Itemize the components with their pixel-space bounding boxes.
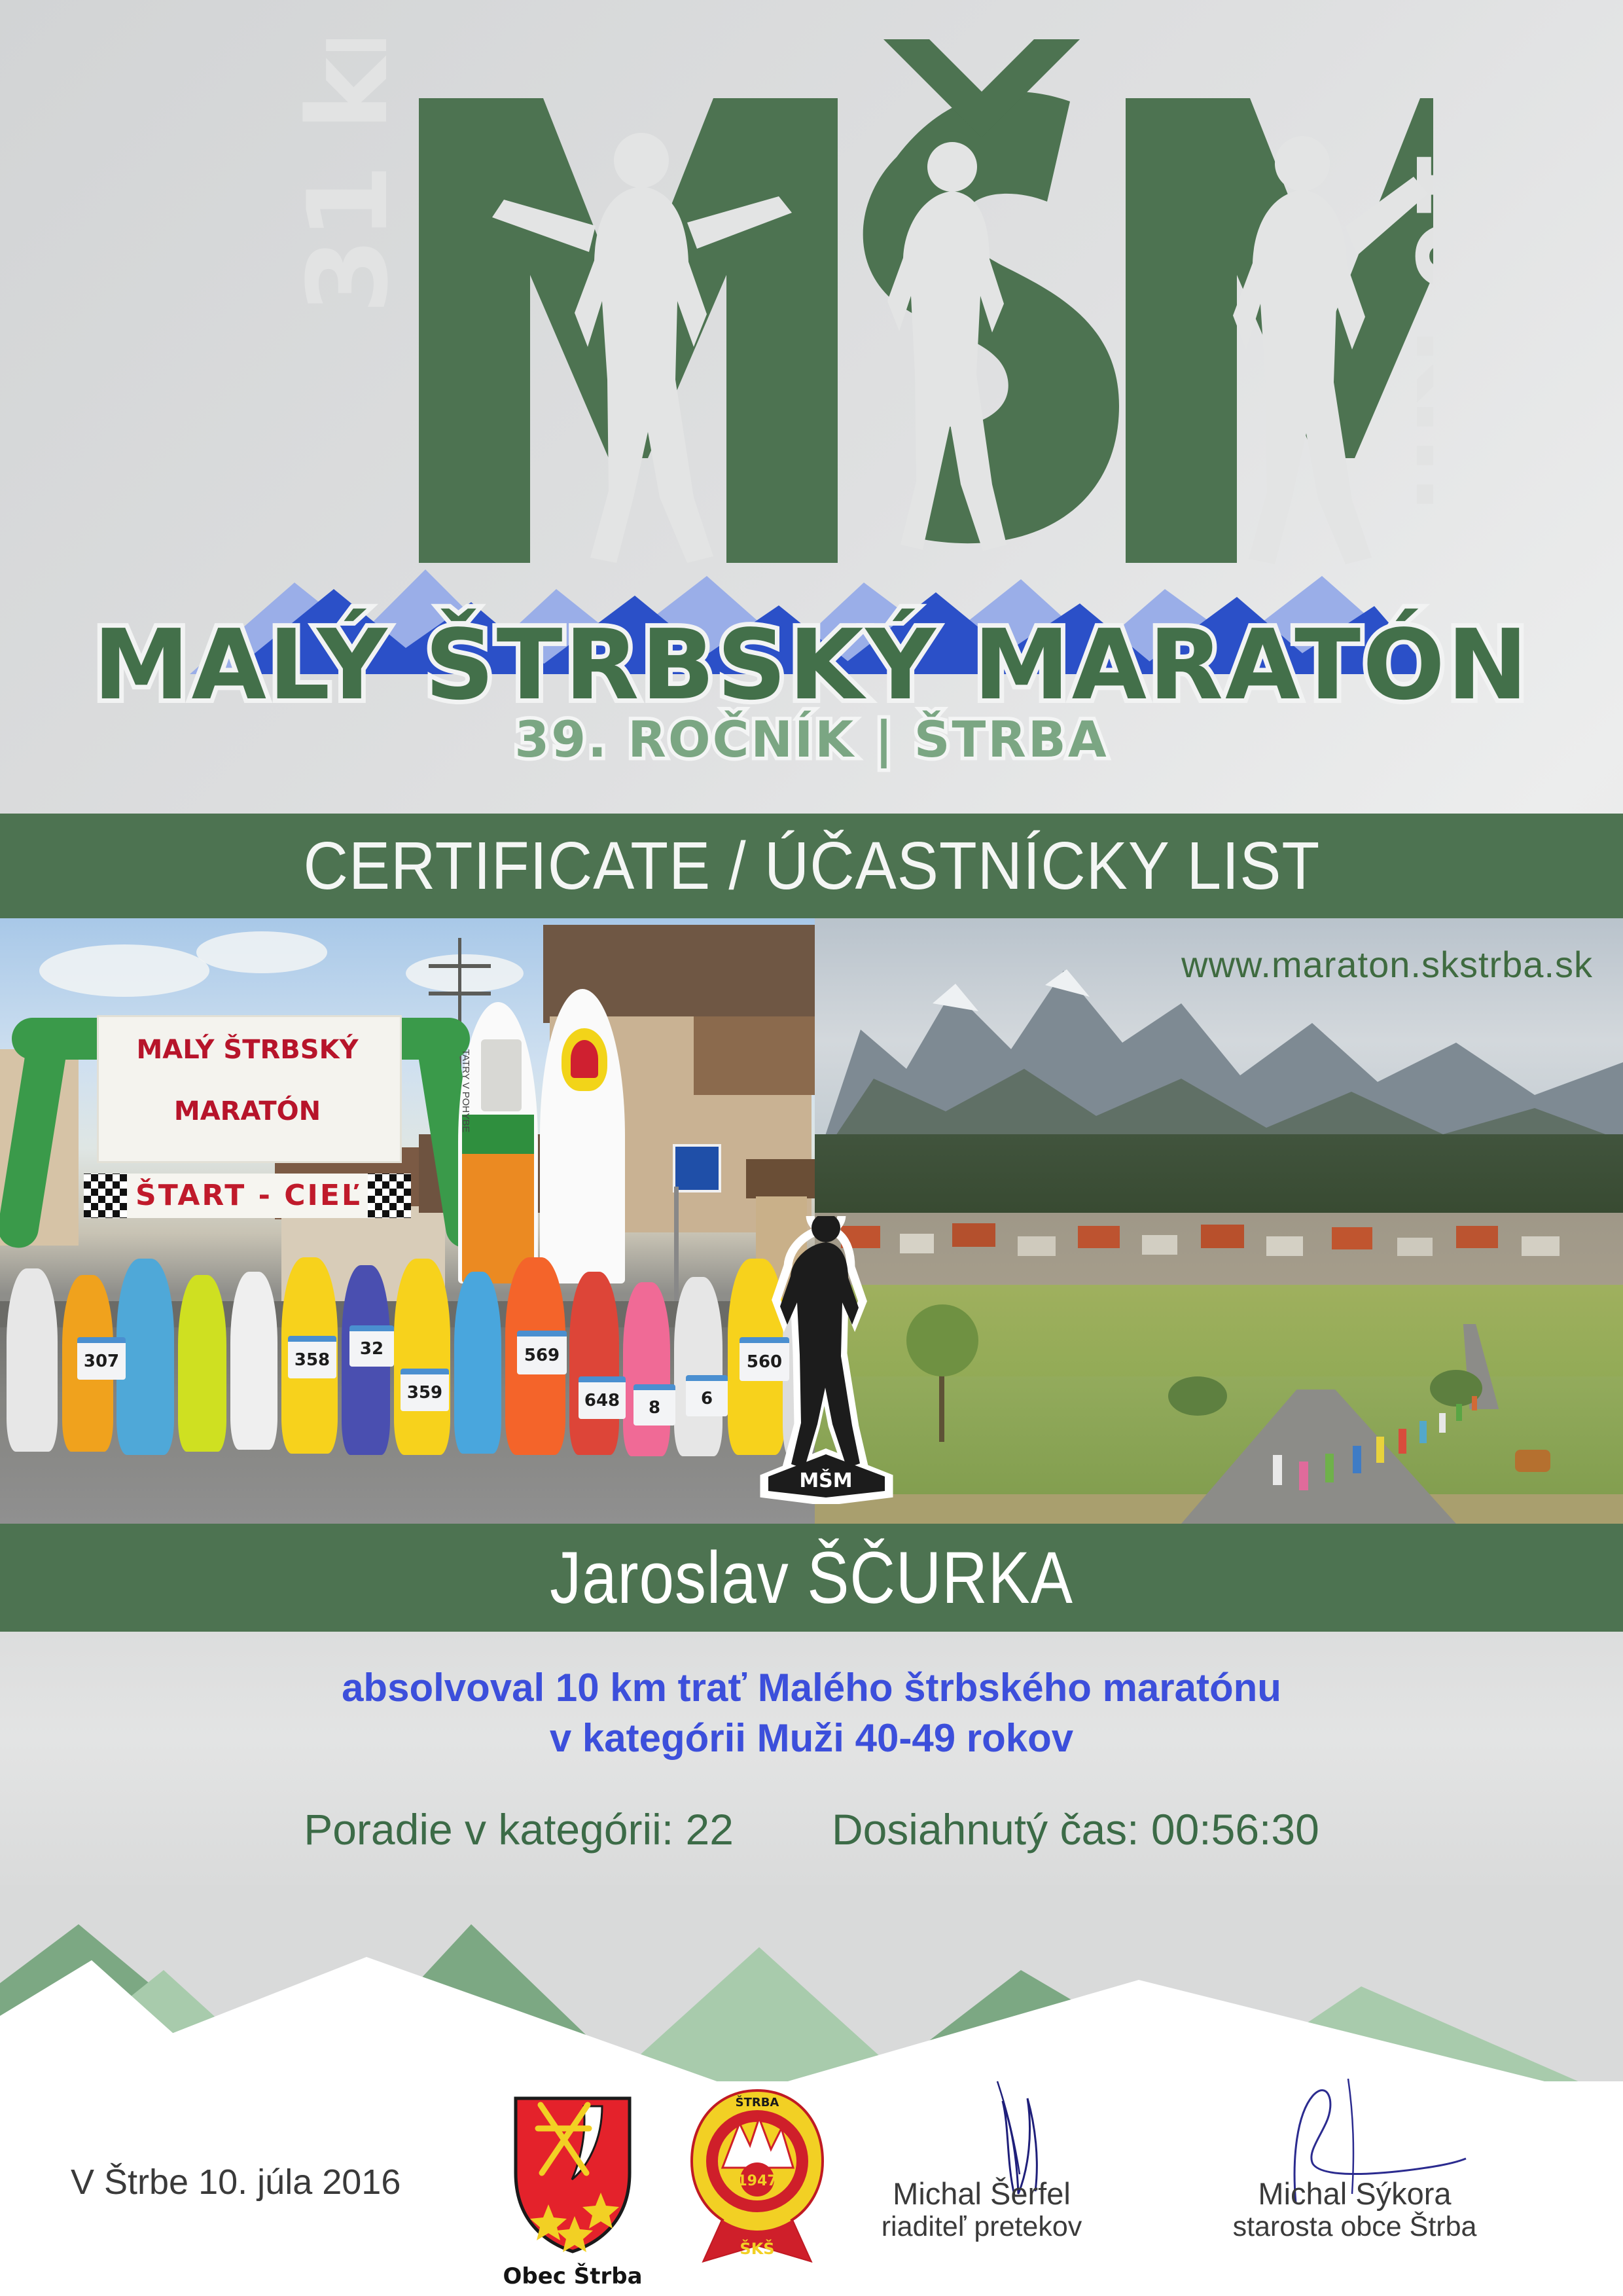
achievement-line-2: v kategórii Muži 40-49 rokov xyxy=(0,1713,1623,1764)
category-rank: Poradie v kategórii: 22 xyxy=(304,1804,734,1854)
bib-number: 569 xyxy=(517,1331,567,1374)
distance-31km-label: 31 km xyxy=(284,39,412,314)
achievement-line-1: absolvoval 10 km trať Malého štrbského m… xyxy=(342,1666,1281,1710)
mountain-footer-graphic xyxy=(0,1885,1623,2101)
certificate-heading-text: CERTIFICATE / ÚČASTNÍCKY LIST xyxy=(303,827,1320,905)
signature-role-director: riaditeľ pretekov xyxy=(838,2211,1126,2242)
sks-club-crest: 1947 ŠTRBA ŠKŠ xyxy=(682,2089,832,2266)
sks-ring-top: ŠTRBA xyxy=(736,2095,779,2109)
achievement-description: absolvoval 10 km trať Malého štrbského m… xyxy=(0,1663,1623,1764)
results-row: Poradie v kategórii: 22 Dosiahnutý čas: … xyxy=(0,1804,1623,1854)
issue-date: V Štrbe 10. júla 2016 xyxy=(71,2162,401,2202)
finish-time: Dosiahnutý čas: 00:56:30 xyxy=(832,1804,1319,1854)
website-url[interactable]: www.maraton.skstrba.sk xyxy=(1181,943,1593,986)
arch-title-line2: MARATÓN xyxy=(97,1096,398,1126)
obec-strba-crest xyxy=(504,2094,641,2258)
signature-role-mayor: starosta obce Štrba xyxy=(1171,2211,1538,2242)
obec-strba-caption: Obec Štrba xyxy=(484,2263,661,2289)
category-rank-value: 22 xyxy=(686,1805,734,1854)
finish-time-value: 00:56:30 xyxy=(1151,1805,1319,1854)
arch-start-finish-banner: ŠTART - CIEĽ xyxy=(124,1179,373,1212)
race-start-photo: MALÝ ŠTRBSKÝ MARATÓN ŠTART - CIEĽ TATRY … xyxy=(0,918,815,1524)
msm-logo: 31 km 10 km xyxy=(190,39,1433,628)
certificate-page: 31 km 10 km xyxy=(0,0,1623,2296)
signature-block-mayor: Michal Sýkora starosta obce Štrba xyxy=(1171,2177,1538,2242)
photo-strip: MALÝ ŠTRBSKÝ MARATÓN ŠTART - CIEĽ TATRY … xyxy=(0,918,1623,1524)
bib-number: 6 xyxy=(686,1375,728,1416)
signature-name-mayor: Michal Sýkora xyxy=(1171,2177,1538,2211)
svg-text:MŠM: MŠM xyxy=(799,1468,852,1492)
arch-title-line1: MALÝ ŠTRBSKÝ xyxy=(97,1035,398,1065)
bib-number: 32 xyxy=(349,1325,394,1367)
certificate-heading-banner: CERTIFICATE / ÚČASTNÍCKY LIST xyxy=(0,814,1623,918)
sks-year: 1947 xyxy=(737,2173,777,2189)
bib-number: 358 xyxy=(288,1336,336,1378)
event-subtitle: 39. ROČNÍK | ŠTRBA xyxy=(0,710,1623,768)
svg-text:31 km: 31 km xyxy=(284,39,412,314)
participant-name-banner: Jaroslav ŠČURKA xyxy=(0,1524,1623,1632)
signature-block-director: Michal Šerfel riaditeľ pretekov xyxy=(838,2177,1126,2242)
tatras-course-photo: www.maraton.skstrba.sk xyxy=(815,918,1623,1524)
finish-time-label: Dosiahnutý čas: xyxy=(832,1805,1151,1854)
logo-header: 31 km 10 km xyxy=(0,0,1623,814)
bib-number: 648 xyxy=(579,1376,626,1419)
flag-text: TATRY V POHYBE xyxy=(458,1049,471,1132)
msm-runner-stamp-icon: MŠM xyxy=(740,1216,913,1504)
participant-name: Jaroslav ŠČURKA xyxy=(550,1535,1073,1620)
bib-number: 307 xyxy=(77,1337,126,1380)
category-rank-label: Poradie v kategórii: xyxy=(304,1805,685,1854)
bib-number: 8 xyxy=(633,1384,675,1426)
msm-monogram-icon: 31 km 10 km xyxy=(190,39,1433,628)
bib-number: 359 xyxy=(401,1369,449,1411)
signature-name-director: Michal Šerfel xyxy=(838,2177,1126,2211)
sks-caption: ŠKŠ xyxy=(740,2238,774,2258)
certificate-footer: V Štrbe 10. júla 2016 Obec Štrba xyxy=(0,2081,1623,2296)
certificate-body: absolvoval 10 km trať Malého štrbského m… xyxy=(0,1632,1623,1898)
event-title: MALÝ ŠTRBSKÝ MARATÓN xyxy=(0,609,1623,721)
